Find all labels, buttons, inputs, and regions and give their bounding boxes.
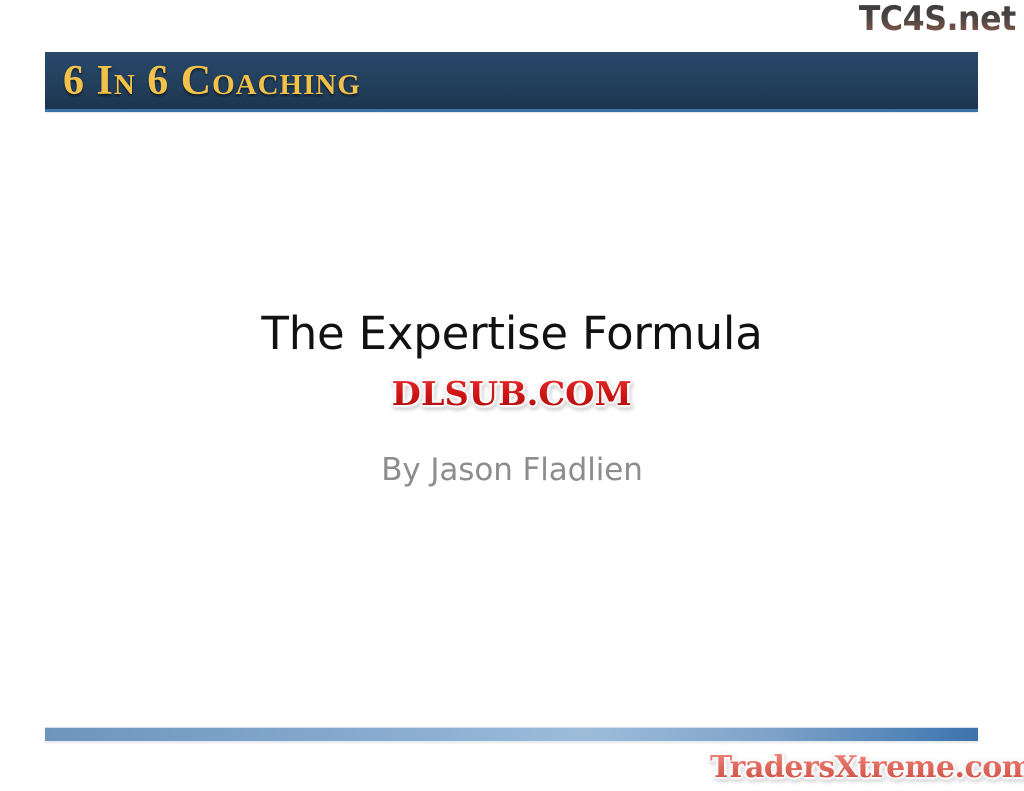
tc4s-watermark: TC4S.net [859,2,1016,36]
dlsub-watermark-text: DLSUB.COM [392,374,632,413]
dlsub-watermark: DLSUB.COM [0,374,1024,413]
header-banner: 6 In 6 Coaching [45,52,978,109]
title-block: The Expertise Formula [0,308,1024,360]
header-banner-title: 6 In 6 Coaching [63,57,361,105]
tradersxtreme-watermark-text: TradersXtreme.com [710,750,1024,785]
presentation-slide: TC4S.net 6 In 6 Coaching The Expertise F… [0,0,1024,791]
slide-subtitle: By Jason Fladlien [0,452,1024,488]
slide-title: The Expertise Formula [0,308,1024,360]
tradersxtreme-watermark: TradersXtreme.com [710,750,1024,785]
footer-gradient-bar [45,727,978,742]
